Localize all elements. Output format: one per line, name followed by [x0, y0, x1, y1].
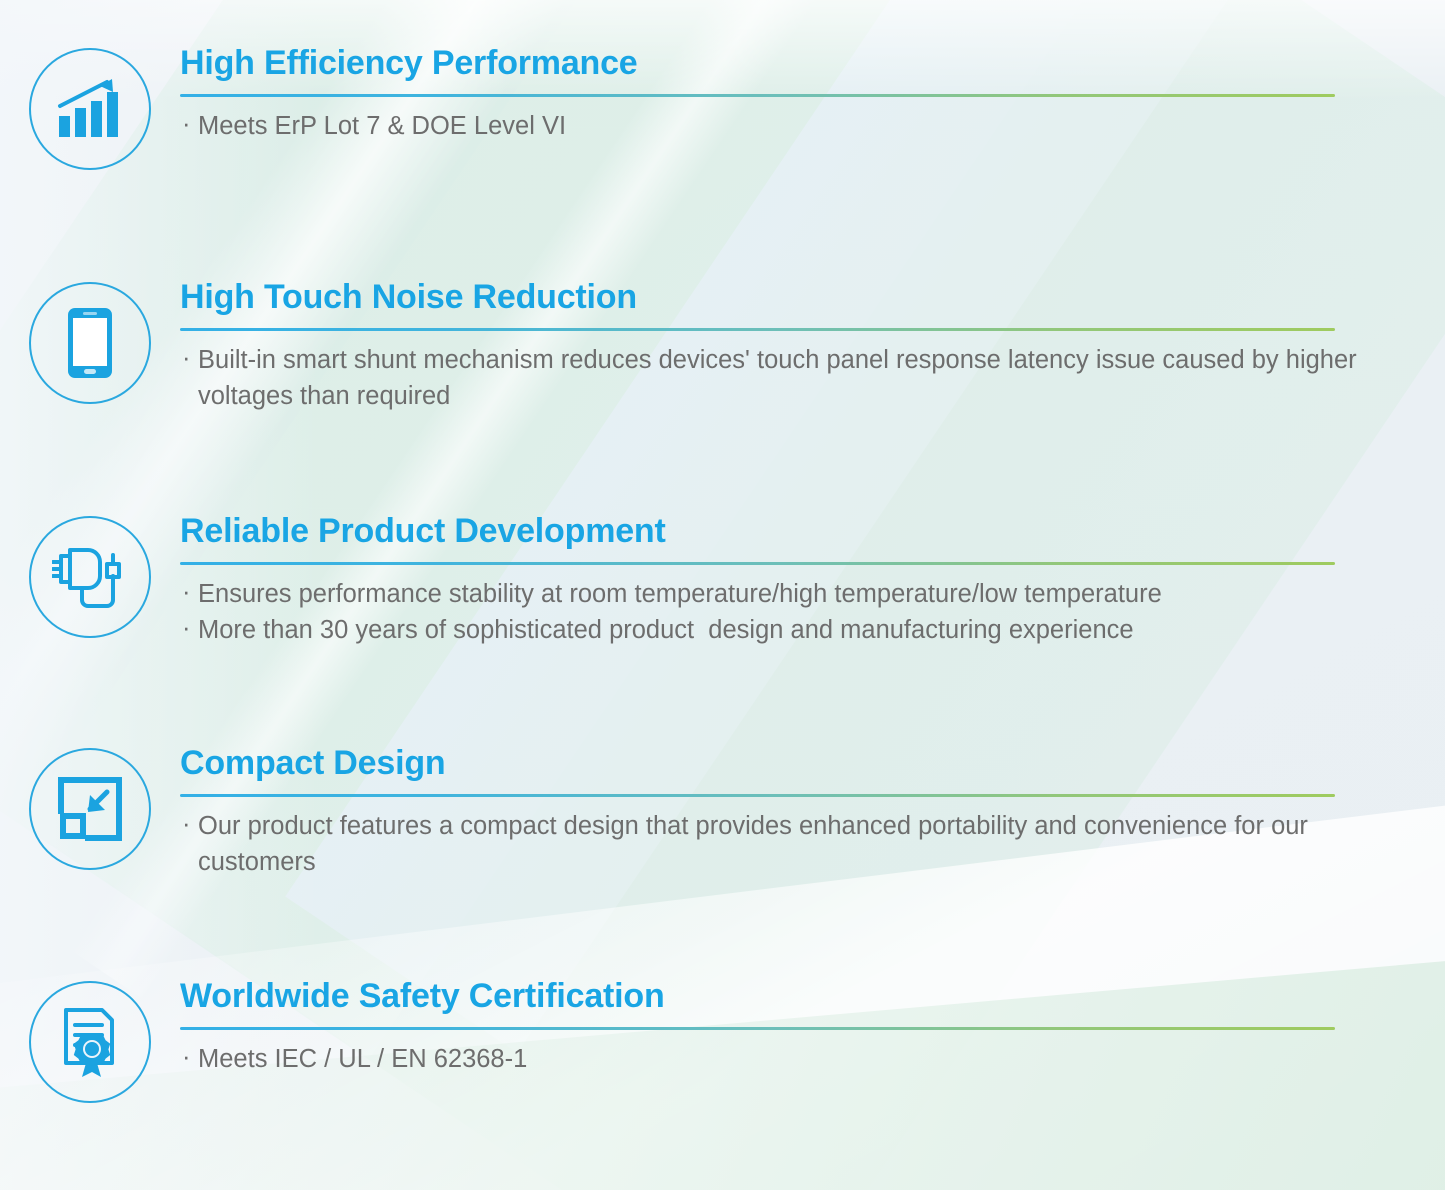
- feature-bullets: Meets IEC / UL / EN 62368-1: [180, 1041, 1365, 1077]
- feature-icon-wrap: [0, 744, 180, 870]
- feature-item-compact-design: Compact Design Our product features a co…: [0, 744, 1445, 880]
- feature-bullets: Built-in smart shunt mechanism reduces d…: [180, 342, 1365, 414]
- feature-title: Worldwide Safety Certification: [180, 977, 1365, 1015]
- feature-bullets: Meets ErP Lot 7 & DOE Level VI: [180, 108, 1365, 144]
- bar-chart-growth-icon: [29, 48, 151, 170]
- feature-bullet: Our product features a compact design th…: [180, 808, 1365, 880]
- feature-item-high-touch-noise-reduction: High Touch Noise Reduction Built-in smar…: [0, 278, 1445, 414]
- feature-icon-wrap: [0, 278, 180, 404]
- feature-icon-wrap: [0, 512, 180, 638]
- certificate-seal-icon: [29, 981, 151, 1103]
- feature-icon-wrap: [0, 977, 180, 1103]
- feature-divider: [180, 328, 1335, 331]
- feature-divider: [180, 794, 1335, 797]
- feature-divider: [180, 94, 1335, 97]
- feature-infographic: High Efficiency Performance Meets ErP Lo…: [0, 0, 1445, 1190]
- feature-content: Reliable Product Development Ensures per…: [180, 512, 1445, 648]
- feature-content: Compact Design Our product features a co…: [180, 744, 1445, 880]
- compact-shrink-icon: [29, 748, 151, 870]
- feature-bullet: More than 30 years of sophisticated prod…: [180, 612, 1365, 648]
- feature-title: Reliable Product Development: [180, 512, 1365, 550]
- power-adapter-icon: [29, 516, 151, 638]
- feature-item-high-efficiency-performance: High Efficiency Performance Meets ErP Lo…: [0, 44, 1445, 170]
- feature-title: High Efficiency Performance: [180, 44, 1365, 82]
- feature-divider: [180, 1027, 1335, 1030]
- feature-bullet: Meets IEC / UL / EN 62368-1: [180, 1041, 1365, 1077]
- feature-content: High Touch Noise Reduction Built-in smar…: [180, 278, 1445, 414]
- feature-title: High Touch Noise Reduction: [180, 278, 1365, 316]
- smartphone-icon: [29, 282, 151, 404]
- feature-icon-wrap: [0, 44, 180, 170]
- feature-bullet: Ensures performance stability at room te…: [180, 576, 1365, 612]
- feature-bullets: Our product features a compact design th…: [180, 808, 1365, 880]
- feature-title: Compact Design: [180, 744, 1365, 782]
- feature-item-reliable-product-development: Reliable Product Development Ensures per…: [0, 512, 1445, 648]
- feature-bullet: Built-in smart shunt mechanism reduces d…: [180, 342, 1365, 414]
- feature-content: High Efficiency Performance Meets ErP Lo…: [180, 44, 1445, 144]
- feature-content: Worldwide Safety Certification Meets IEC…: [180, 977, 1445, 1077]
- feature-divider: [180, 562, 1335, 565]
- feature-bullets: Ensures performance stability at room te…: [180, 576, 1365, 648]
- feature-bullet: Meets ErP Lot 7 & DOE Level VI: [180, 108, 1365, 144]
- feature-item-worldwide-safety-certification: Worldwide Safety Certification Meets IEC…: [0, 977, 1445, 1103]
